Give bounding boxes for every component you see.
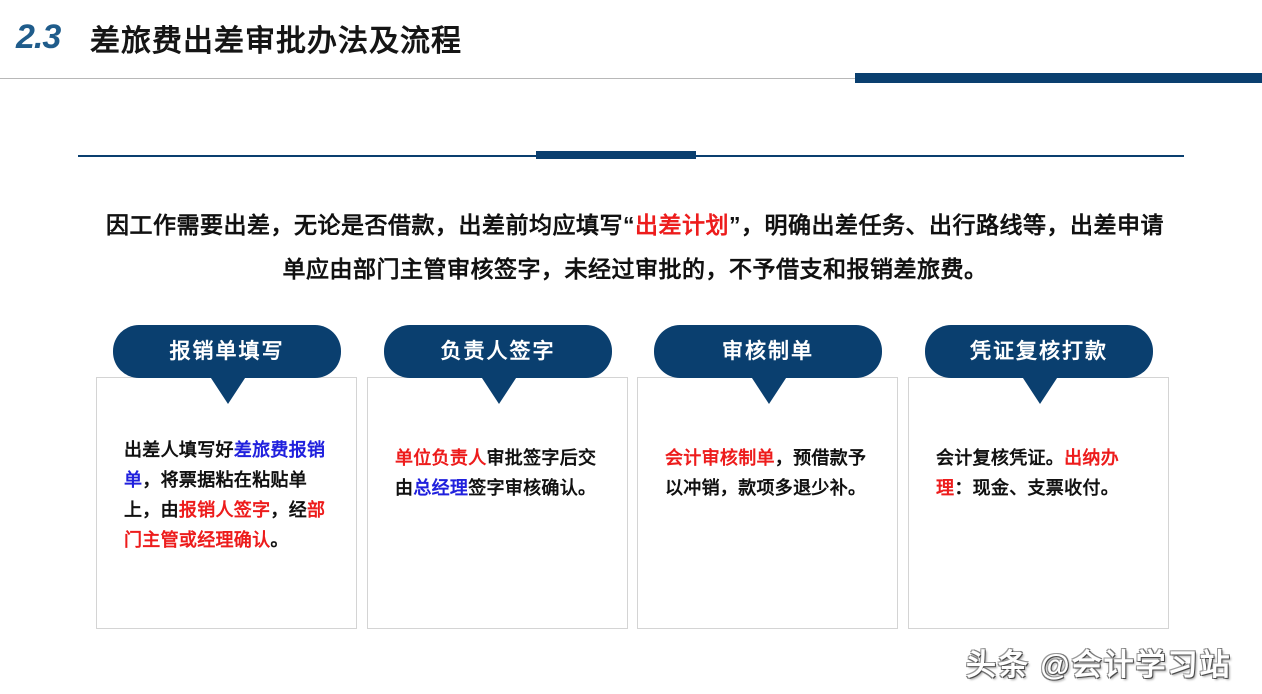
flow-step-4: 凭证复核打款 会计复核凭证。出纳办理：现金、支票收付。 [908,325,1171,635]
intro-quote-open: “ [623,212,635,238]
section-divider-accent [536,151,696,159]
flow-step-2-header[interactable]: 负责人签字 [384,325,612,378]
text-run-3: 签字审核确认。 [468,478,596,498]
flow-step-3-header[interactable]: 审核制单 [654,325,882,378]
text-run-4: ，经 [270,500,307,520]
page-title: 差旅费出差审批办法及流程 [90,16,462,60]
flow-step-4-title: 凭证复核打款 [970,341,1108,362]
flow-step-3: 审核制单 会计审核制单，预借款予以冲销，款项多退少补。 [637,325,900,635]
intro-highlight: 出差计划 [635,212,729,238]
intro-quote-close: ” [729,212,741,238]
flow-step-4-card [908,377,1169,629]
watermark: 头条 @会计学习站 [966,640,1232,684]
flow-step-3-pointer-icon [750,375,788,404]
flow-step-1-title: 报销单填写 [170,341,285,362]
intro-paragraph: 因工作需要出差，无论是否借款，出差前均应填写“出差计划”，明确出差任务、出行路线… [100,203,1170,291]
flow-step-3-card [637,377,898,629]
flow-step-1-header[interactable]: 报销单填写 [113,325,341,378]
text-run-0: 会计复核凭证。 [936,448,1064,468]
flow-step-2: 负责人签字 单位负责人审批签字后交由总经理签字审核确认。 [367,325,630,635]
text-run-2: ：现金、支票收付。 [954,478,1119,498]
flow-step-4-pointer-icon [1021,375,1059,404]
approval-flow-row: 报销单填写 出差人填写好差旅费报销单，将票据粘在粘贴单上，由报销人签字，经部门主… [0,325,1262,635]
flow-step-1-body: 出差人填写好差旅费报销单，将票据粘在粘贴单上，由报销人签字，经部门主管或经理确认… [124,435,330,555]
flow-step-4-header[interactable]: 凭证复核打款 [925,325,1153,378]
text-run-0: 单位负责人 [395,448,487,468]
section-number: 2.3 [16,18,60,57]
flow-step-3-title: 审核制单 [722,341,814,362]
flow-step-1-pointer-icon [209,375,247,404]
text-run-0: 会计审核制单 [665,448,775,468]
flow-step-1: 报销单填写 出差人填写好差旅费报销单，将票据粘在粘贴单上，由报销人签字，经部门主… [96,325,359,635]
text-run-0: 出差人填写好 [124,440,234,460]
intro-text-part1: 因工作需要出差，无论是否借款，出差前均应填写 [106,212,623,238]
flow-step-3-body: 会计审核制单，预借款予以冲销，款项多退少补。 [665,443,871,503]
text-run-3: 报销人签字 [179,500,271,520]
flow-step-2-title: 负责人签字 [441,341,556,362]
text-run-6: 。 [270,530,288,550]
flow-step-4-body: 会计复核凭证。出纳办理：现金、支票收付。 [936,443,1142,503]
flow-step-2-pointer-icon [480,375,518,404]
text-run-2: 总经理 [413,478,468,498]
slide-header: 2.3 差旅费出差审批办法及流程 [0,0,1262,84]
header-accent-bar [855,73,1262,83]
flow-step-2-card [367,377,628,629]
flow-step-2-body: 单位负责人审批签字后交由总经理签字审核确认。 [395,443,601,503]
